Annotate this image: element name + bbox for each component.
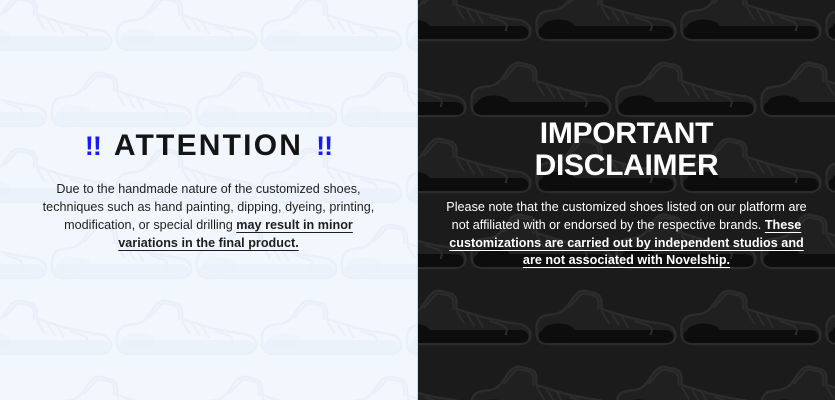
disclaimer-panel: IMPORTANT DISCLAIMER Please note that th… (417, 0, 835, 400)
dual-notice-banner: !! ATTENTION !! Due to the handmade natu… (0, 0, 835, 400)
double-exclamation-right-icon: !! (316, 133, 332, 160)
attention-body: Due to the handmade nature of the custom… (38, 181, 379, 253)
attention-heading-text: ATTENTION (114, 131, 303, 161)
disclaimer-body: Please note that the customized shoes li… (446, 199, 807, 271)
attention-heading: !! ATTENTION !! (38, 131, 379, 161)
disclaimer-heading-line-2: DISCLAIMER (446, 150, 807, 182)
disclaimer-body-plain: Please note that the customized shoes li… (446, 200, 806, 232)
attention-content: !! ATTENTION !! Due to the handmade natu… (0, 131, 417, 253)
double-exclamation-left-icon: !! (85, 133, 101, 160)
attention-panel: !! ATTENTION !! Due to the handmade natu… (0, 0, 417, 400)
disclaimer-content: IMPORTANT DISCLAIMER Please note that th… (418, 118, 835, 270)
disclaimer-heading: IMPORTANT DISCLAIMER (446, 118, 807, 183)
disclaimer-heading-line-1: IMPORTANT (446, 118, 807, 150)
